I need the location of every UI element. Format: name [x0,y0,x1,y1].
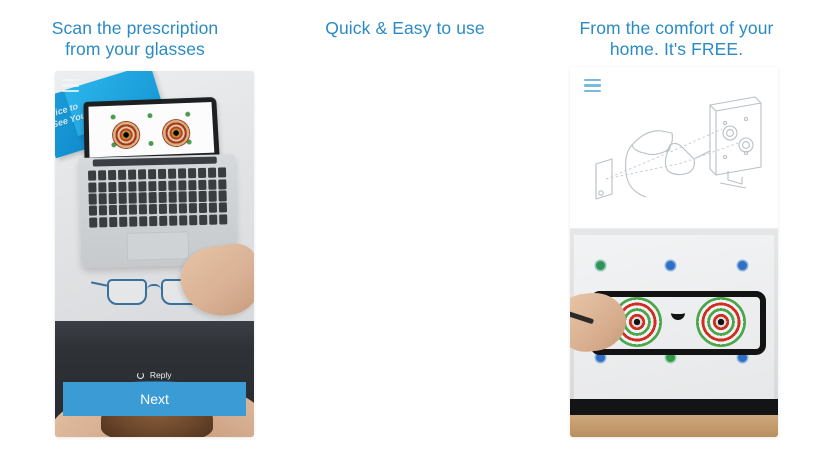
laptop-keyboard [88,167,227,227]
reply-button[interactable]: Reply [55,370,254,380]
panel-3-heading-line1: From the comfort of your [580,18,774,38]
panel-scan-prescription: Scan the prescription from your glasses … [0,0,270,457]
next-button[interactable]: Next [63,382,246,416]
hamburger-icon[interactable] [62,79,79,92]
panel-2-heading: Quick & Easy to use [270,0,540,39]
reply-label: Reply [150,370,172,380]
panel-2-heading-line1: Quick & Easy to use [325,18,484,38]
laptop-trackpad [127,231,190,261]
hamburger-bar [62,79,79,81]
hamburger-bar [62,84,79,86]
panel-1-heading: Scan the prescription from your glasses [0,0,270,60]
panel-quick-easy: Quick & Easy to use [270,0,540,457]
refresh-circle-icon [137,372,144,379]
laptop-lid [83,97,219,164]
phone-mockup-1: Nice to See You! [55,71,254,437]
target-pattern-left [112,121,141,150]
calibration-dot [147,113,152,118]
panel-1-heading-line1: Scan the prescription [52,18,219,38]
panel-3-heading: From the comfort of your home. It's FREE… [540,0,813,60]
hamburger-bar [62,90,79,92]
panel-1-heading-line2: from your glasses [0,39,270,60]
panel-requirements: From the comfort of your home. It's FREE… [540,0,813,457]
glasses-lens-left [107,279,147,305]
next-button-label: Next [140,391,169,407]
glasses-bridge [147,284,161,290]
calibration-dot [111,115,116,120]
panel-3-heading-line2: home. It's FREE. [540,39,813,60]
laptop-screen [88,102,214,157]
laptop-hinge [93,157,217,167]
calibration-dot [148,141,153,146]
onboarding-screenshot: Scan the prescription from your glasses … [0,0,813,457]
calibration-dot [185,112,190,117]
